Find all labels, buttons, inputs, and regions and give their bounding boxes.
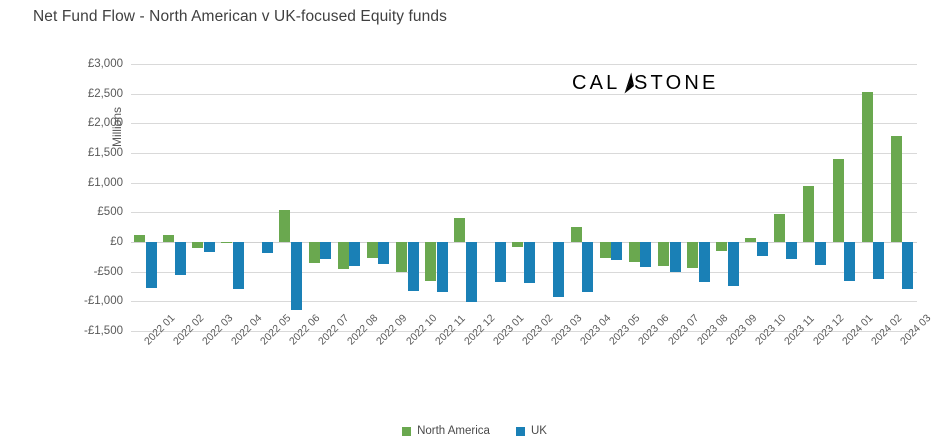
bar-north-america[interactable] [774, 214, 785, 242]
bar-uk[interactable] [437, 242, 448, 292]
bar-north-america[interactable] [571, 227, 582, 242]
bar-north-america[interactable] [279, 210, 290, 242]
gridline [131, 94, 917, 95]
x-axis-tick-label: 2023 08 [695, 312, 730, 347]
gridline [131, 64, 917, 65]
legend-swatch-icon-uk [516, 427, 525, 436]
bar-north-america[interactable] [716, 242, 727, 251]
bar-uk[interactable] [553, 242, 564, 297]
x-axis-tick-label: 2023 05 [607, 312, 642, 347]
bar-uk[interactable] [175, 242, 186, 275]
gridline [131, 183, 917, 184]
x-axis-tick-label: 2022 04 [229, 312, 264, 347]
bar-north-america[interactable] [163, 235, 174, 242]
x-axis-tick-label: 2022 09 [374, 312, 409, 347]
legend-label-north-america: North America [417, 425, 490, 437]
x-axis-tick-label: 2023 03 [549, 312, 584, 347]
x-axis-tick-label: 2022 05 [258, 312, 293, 347]
bar-uk[interactable] [844, 242, 855, 281]
x-axis-tick-label: 2022 01 [142, 312, 177, 347]
bar-uk[interactable] [349, 242, 360, 266]
bar-north-america[interactable] [221, 242, 232, 243]
gridline [131, 153, 917, 154]
bar-north-america[interactable] [134, 235, 145, 242]
bar-north-america[interactable] [367, 242, 378, 258]
x-axis-tick-label: 2024 03 [898, 312, 933, 347]
bar-north-america[interactable] [891, 136, 902, 242]
x-axis-tick-label: 2022 12 [462, 312, 497, 347]
bar-north-america[interactable] [862, 92, 873, 242]
gridline [131, 212, 917, 213]
y-axis-tick-label: £1,500 [88, 147, 123, 159]
bar-north-america[interactable] [338, 242, 349, 269]
calastone-logo: CAL STONE [572, 68, 784, 98]
bar-uk[interactable] [146, 242, 157, 288]
bar-north-america[interactable] [629, 242, 640, 262]
x-axis-tick-label: 2023 07 [666, 312, 701, 347]
bar-north-america[interactable] [396, 242, 407, 272]
bar-uk[interactable] [640, 242, 651, 267]
bar-uk[interactable] [670, 242, 681, 272]
legend-item-uk[interactable]: UK [516, 425, 547, 437]
bar-north-america[interactable] [309, 242, 320, 263]
y-axis-tick-label: £2,000 [88, 117, 123, 129]
bar-uk[interactable] [291, 242, 302, 310]
y-axis-tick-label: £500 [97, 206, 123, 218]
bar-uk[interactable] [233, 242, 244, 289]
x-axis-tick-label: 2023 02 [520, 312, 555, 347]
legend-swatch-icon-north-america [402, 427, 411, 436]
x-axis-tick-label: 2022 06 [287, 312, 322, 347]
bar-uk[interactable] [408, 242, 419, 291]
x-axis-tick-label: 2023 01 [491, 312, 526, 347]
bar-north-america[interactable] [454, 218, 465, 242]
x-axis-tick-label: 2022 10 [404, 312, 439, 347]
x-axis-tick-label: 2023 10 [753, 312, 788, 347]
bar-uk[interactable] [611, 242, 622, 260]
bar-uk[interactable] [815, 242, 826, 265]
bar-north-america[interactable] [600, 242, 611, 258]
x-axis-tick-label: 2022 02 [171, 312, 206, 347]
bar-north-america[interactable] [833, 159, 844, 242]
y-axis-tick-label: £1,000 [88, 177, 123, 189]
y-axis-tick-label: -£1,500 [84, 325, 123, 337]
chart-container: Net Fund Flow - North American v UK-focu… [0, 0, 949, 447]
y-axis-tick-label: £0 [110, 236, 123, 248]
svg-text:CAL: CAL [572, 72, 621, 94]
bar-north-america[interactable] [687, 242, 698, 268]
svg-text:STONE: STONE [634, 72, 719, 94]
x-axis-tick-label: 2022 08 [345, 312, 380, 347]
bar-uk[interactable] [204, 242, 215, 252]
bar-north-america[interactable] [745, 238, 756, 242]
bar-uk[interactable] [524, 242, 535, 283]
x-axis-tick-label: 2024 02 [869, 312, 904, 347]
bar-uk[interactable] [786, 242, 797, 259]
y-axis-tick-label: -£1,000 [84, 295, 123, 307]
gridline [131, 123, 917, 124]
chart-legend: North America UK [0, 425, 949, 437]
bar-uk[interactable] [466, 242, 477, 302]
x-axis-tick-label: 2022 07 [316, 312, 351, 347]
bar-north-america[interactable] [192, 242, 203, 248]
legend-item-north-america[interactable]: North America [402, 425, 490, 437]
gridline [131, 301, 917, 302]
bar-north-america[interactable] [658, 242, 669, 266]
x-axis-tick-label: 2024 01 [840, 312, 875, 347]
bar-uk[interactable] [699, 242, 710, 282]
bar-uk[interactable] [495, 242, 506, 282]
y-axis-title-wrapper: Millions [62, 120, 86, 240]
bar-uk[interactable] [262, 242, 273, 253]
y-axis-tick-label: £3,000 [88, 58, 123, 70]
bar-north-america[interactable] [512, 242, 523, 247]
x-axis-tick-label: 2023 04 [578, 312, 613, 347]
x-axis-tick-label: 2023 09 [724, 312, 759, 347]
plot-area: £3,000£2,500£2,000£1,500£1,000£500£0-£50… [131, 64, 917, 331]
bar-north-america[interactable] [803, 186, 814, 242]
bar-uk[interactable] [582, 242, 593, 292]
bar-north-america[interactable] [425, 242, 436, 281]
y-axis-tick-label: £2,500 [88, 88, 123, 100]
legend-label-uk: UK [531, 425, 547, 437]
y-axis-tick-label: -£500 [94, 266, 123, 278]
chart-title: Net Fund Flow - North American v UK-focu… [33, 8, 447, 26]
bar-uk[interactable] [320, 242, 331, 259]
bar-uk[interactable] [728, 242, 739, 286]
bar-uk[interactable] [873, 242, 884, 279]
bar-uk[interactable] [757, 242, 768, 256]
x-axis-tick-label: 2023 06 [636, 312, 671, 347]
x-axis-tick-label: 2023 12 [811, 312, 846, 347]
bar-uk[interactable] [378, 242, 389, 264]
bar-uk[interactable] [902, 242, 913, 289]
x-axis-tick-label: 2022 03 [200, 312, 235, 347]
